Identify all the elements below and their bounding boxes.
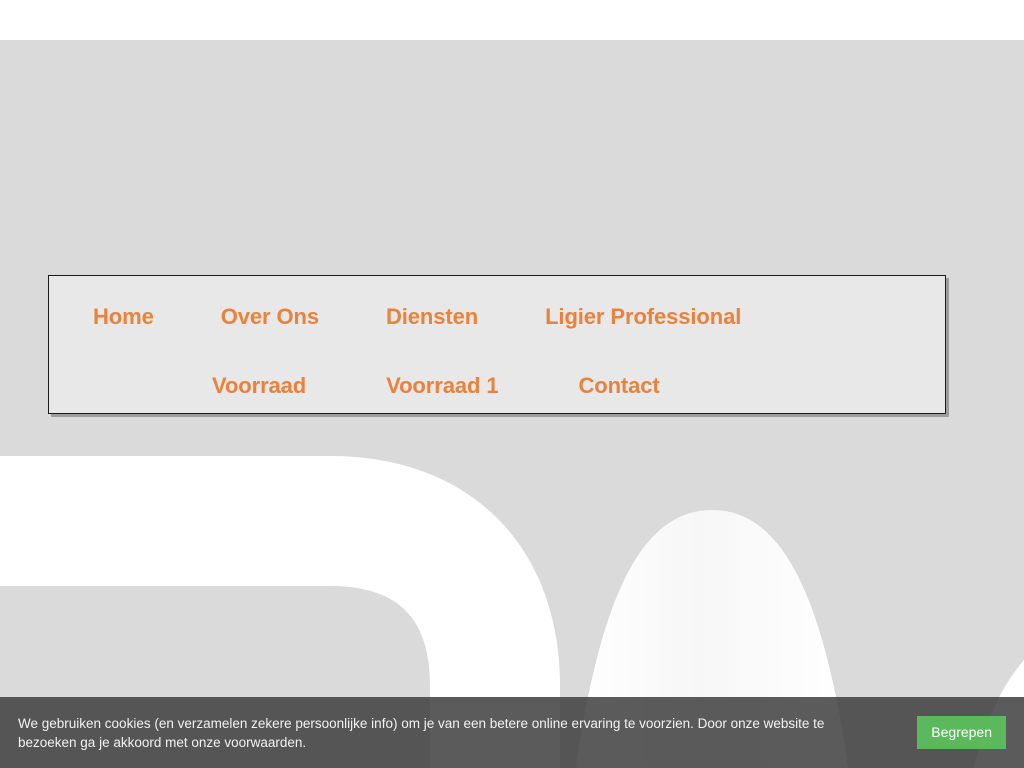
nav-item-ligier-professional[interactable]: Ligier Professional — [545, 306, 741, 328]
main-navigation-panel: Home Over Ons Diensten Ligier Profession… — [48, 275, 946, 414]
page-root: Home Over Ons Diensten Ligier Profession… — [0, 0, 1024, 768]
nav-rows: Home Over Ons Diensten Ligier Profession… — [49, 276, 945, 413]
cookie-consent-message: We gebruiken cookies (en verzamelen zeke… — [18, 714, 863, 752]
nav-item-diensten[interactable]: Diensten — [386, 306, 478, 328]
nav-item-voorraad[interactable]: Voorraad — [212, 375, 306, 397]
cookie-accept-button[interactable]: Begrepen — [917, 716, 1006, 749]
nav-item-home[interactable]: Home — [93, 306, 154, 328]
nav-item-voorraad-1[interactable]: Voorraad 1 — [386, 375, 498, 397]
nav-item-over-ons[interactable]: Over Ons — [221, 306, 319, 328]
nav-item-contact[interactable]: Contact — [578, 375, 659, 397]
top-white-strip — [0, 0, 1024, 40]
nav-row-secondary: Voorraad Voorraad 1 Contact — [49, 363, 945, 409]
cookie-consent-banner: We gebruiken cookies (en verzamelen zeke… — [0, 697, 1024, 768]
nav-row-primary: Home Over Ons Diensten Ligier Profession… — [49, 294, 945, 340]
